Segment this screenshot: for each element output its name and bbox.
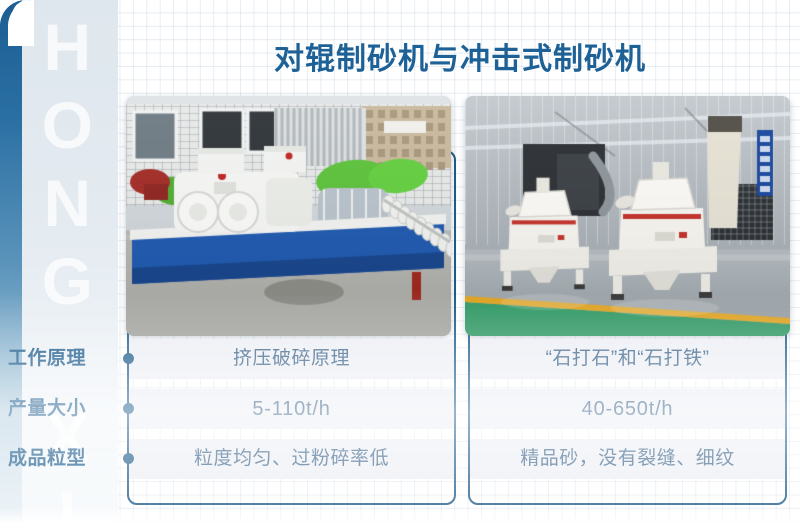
product-photo-double-roller-canvas xyxy=(126,96,451,336)
cell-left-working-principle: 挤压破碎原理 xyxy=(129,339,454,379)
product-photo-impact xyxy=(465,96,790,336)
infographic-root: HONG XING 对辊制砂机与冲击式制砂机 工作原理 产量大小 成品粒型 挤压… xyxy=(0,0,800,530)
cell-left-capacity: 5-110t/h xyxy=(129,389,454,429)
row-label-grain-shape: 成品粒型 xyxy=(8,439,120,479)
cell-right-working-principle: “石打石”和“石打铁” xyxy=(470,339,785,379)
cell-right-grain-shape: 精品砂，没有裂缝、细纹 xyxy=(470,439,785,479)
row-label-capacity: 产量大小 xyxy=(8,389,120,429)
cell-right-capacity: 40-650t/h xyxy=(470,389,785,429)
product-photo-impact-canvas xyxy=(465,96,790,336)
page-title: 对辊制砂机与冲击式制砂机 xyxy=(140,34,780,78)
product-photo-double-roller xyxy=(126,96,451,336)
row-label-working-principle: 工作原理 xyxy=(8,339,120,379)
brand-watermark: HONG XING xyxy=(8,6,112,506)
cell-left-grain-shape: 粒度均匀、过粉碎率低 xyxy=(129,439,454,479)
